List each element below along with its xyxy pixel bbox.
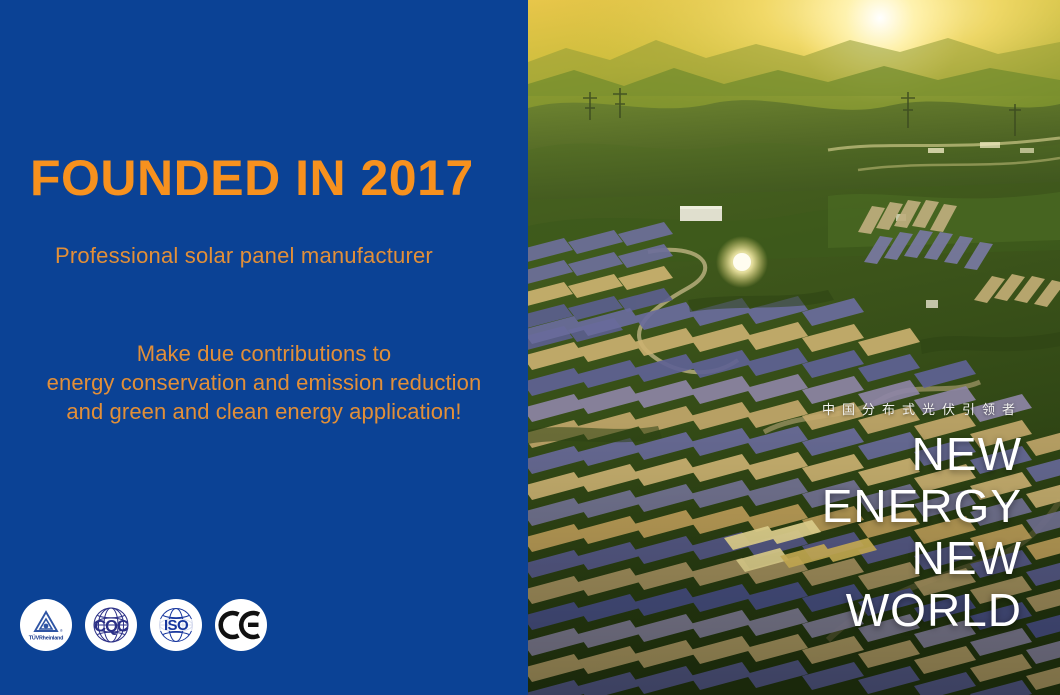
svg-text:CQC: CQC	[94, 618, 129, 636]
slogan-block: NEW ENERGY NEW WORLD	[722, 428, 1022, 636]
slogan-line-3: NEW	[722, 532, 1022, 584]
tuv-rheinland-badge: TÜVRheinland ®	[20, 599, 72, 651]
tagline-line-2: energy conservation and emission reducti…	[0, 368, 528, 397]
ce-mark-icon	[215, 599, 267, 651]
svg-text:TÜVRheinland: TÜVRheinland	[29, 635, 63, 642]
promotional-banner: 中国分布式光伏引领者 NEW ENERGY NEW WORLD FOUNDED …	[0, 0, 1060, 695]
slogan-line-4: WORLD	[722, 584, 1022, 636]
tagline-block: Make due contributions to energy conserv…	[0, 339, 528, 426]
subtitle: Professional solar panel manufacturer	[55, 243, 433, 269]
cqc-icon: CQC	[85, 599, 137, 651]
iso-badge: ISO	[150, 599, 202, 651]
iso-icon: ISO	[150, 599, 202, 651]
ce-mark-badge	[215, 599, 267, 651]
slogan-line-2: ENERGY	[722, 480, 1022, 532]
page-title: FOUNDED IN 2017	[30, 152, 474, 205]
certification-badges: TÜVRheinland ® CQC	[20, 599, 267, 651]
tagline-line-1: Make due contributions to	[0, 339, 528, 368]
slogan-line-1: NEW	[722, 428, 1022, 480]
svg-text:®: ®	[60, 629, 63, 633]
solar-farm-photo: 中国分布式光伏引领者 NEW ENERGY NEW WORLD	[528, 0, 1060, 695]
left-text-panel: FOUNDED IN 2017 Professional solar panel…	[0, 0, 528, 695]
cqc-badge: CQC	[85, 599, 137, 651]
svg-text:ISO: ISO	[164, 617, 189, 634]
tagline-line-3: and green and clean energy application!	[0, 397, 528, 426]
tuv-rheinland-icon: TÜVRheinland ®	[20, 599, 72, 651]
chinese-tagline: 中国分布式光伏引领者	[815, 399, 1022, 418]
